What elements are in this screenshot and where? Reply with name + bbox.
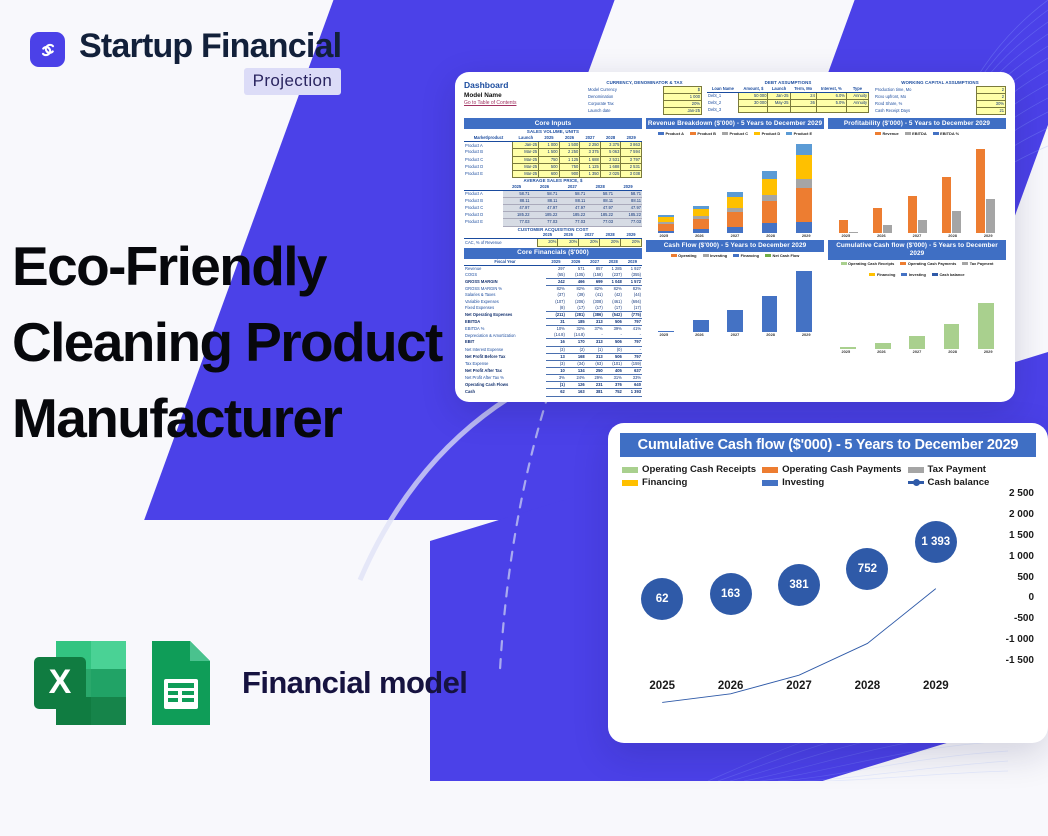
- axis-tick: 2029: [970, 233, 1006, 238]
- row-label: Depreciation & Amortization: [464, 332, 546, 339]
- column-header: 2025: [546, 259, 566, 266]
- row-value[interactable]: 20%: [664, 101, 702, 108]
- cell-value: (105): [566, 272, 586, 279]
- cell-value[interactable]: 50 000: [739, 92, 768, 99]
- table-row: Depreciation & Amortization(14.8)(14.8)-…: [464, 332, 642, 339]
- model-name-label: Model Name: [464, 91, 582, 100]
- axis-tick: 2027: [899, 233, 935, 238]
- table-row: Launch dateJan-25: [587, 108, 702, 115]
- column-header: Loan Name: [707, 86, 739, 93]
- avg-price-rows: Product A58.7158.7158.7158.7158.71Produc…: [464, 190, 642, 226]
- profitability-title: Profitability ($'000) - 5 Years to Decem…: [828, 118, 1006, 129]
- column-header: Amount, $: [739, 86, 768, 93]
- cell-value: 857: [586, 265, 604, 272]
- cell-value: 381: [586, 389, 604, 396]
- currency-rows: Model Currency$Denomination1 000Corporat…: [587, 86, 702, 115]
- legend-item: Revenue: [875, 131, 899, 136]
- row-label: Product E: [464, 219, 503, 226]
- cell-value[interactable]: [846, 107, 868, 113]
- cell-value[interactable]: Jan-25: [768, 92, 790, 99]
- cell-value[interactable]: 1 688: [580, 156, 601, 163]
- chart-legend: Operating Cash ReceiptsOperating Cash Pa…: [620, 457, 1036, 492]
- legend-item: Financing: [733, 253, 759, 258]
- cell-value[interactable]: Annuity: [846, 100, 868, 107]
- cell-value: 16: [546, 339, 566, 346]
- cell-value[interactable]: 1 125: [580, 163, 601, 170]
- column-header: 2027: [586, 259, 604, 266]
- cell-value[interactable]: 6.0%: [816, 92, 846, 99]
- cell-value[interactable]: 3 797: [621, 156, 642, 163]
- column-header: Launch: [513, 135, 539, 142]
- table-row: Cash621633817521 393: [464, 389, 642, 396]
- cell-value[interactable]: 3 863: [621, 142, 642, 149]
- footer-formats: X Financial model: [28, 635, 467, 731]
- row-label: Launch date: [587, 108, 664, 115]
- cash-flow-bars: [649, 262, 821, 332]
- cell-value: (55): [546, 272, 566, 279]
- page-title: Eco-Friendly Cleaning Product Manufactur…: [12, 228, 442, 456]
- cell-value[interactable]: Mar-25: [513, 156, 539, 163]
- row-value[interactable]: 21: [976, 108, 1005, 115]
- cell-value[interactable]: 58.71: [614, 190, 642, 197]
- cell-value: 313: [586, 319, 604, 326]
- legend-item: Investing: [703, 253, 728, 258]
- cumulative-small-legend: Operating Cash ReceiptsOperating Cash Pa…: [828, 260, 1006, 279]
- legend-item: Product A: [658, 131, 684, 136]
- table-row: Production time, Mo2: [874, 86, 1006, 93]
- cell-value: (17): [623, 305, 642, 312]
- cell-value[interactable]: 2 531: [621, 163, 642, 170]
- e-loop-logo-icon: [30, 32, 65, 67]
- y-tick: 1 000: [972, 551, 1034, 562]
- cell-value[interactable]: 47.97: [531, 205, 559, 212]
- cell-value: 3%: [546, 375, 566, 382]
- cell-value: 37%: [586, 326, 604, 333]
- brand-title: Startup Financial: [79, 26, 341, 66]
- axis-tick: 2028: [935, 349, 971, 354]
- cell-value[interactable]: 2 025: [600, 170, 621, 177]
- cell-value[interactable]: 500: [539, 163, 560, 170]
- cell-value[interactable]: 36: [790, 100, 816, 107]
- column-header: 2028: [586, 184, 614, 191]
- cell-value: -: [623, 332, 642, 339]
- column-header: Launch: [768, 86, 790, 93]
- table-row: EBITDA31185313506797: [464, 319, 642, 326]
- axis-tick: 2025: [646, 332, 682, 337]
- cell-value[interactable]: 47.97: [558, 205, 586, 212]
- cell-value[interactable]: 2 250: [559, 149, 580, 156]
- cell-value[interactable]: 77.03: [503, 219, 531, 226]
- y-tick: 2 000: [972, 509, 1034, 520]
- legend-item: Operating Cash Receipts: [622, 464, 756, 475]
- cell-value: (63): [586, 360, 604, 367]
- revenue-breakdown-bars: [649, 139, 821, 233]
- cell-value: 10: [546, 368, 566, 375]
- table-row: Net Profit After Tax10134250405637: [464, 368, 642, 375]
- debt-columns: Loan NameAmount, $LaunchTerm, MoInterest…: [707, 86, 869, 93]
- legend-item: Financing: [869, 272, 895, 277]
- legend-item: EBITDA %: [933, 131, 959, 136]
- table-row: Revenue2975718571 2851 927: [464, 265, 642, 272]
- footer-label: Financial model: [242, 665, 467, 701]
- cell-value[interactable]: [816, 107, 846, 113]
- column-header: 2029: [621, 232, 642, 239]
- y-tick: 500: [972, 572, 1034, 583]
- table-row: Denomination1 000: [587, 93, 702, 100]
- table-row: Net Profit Before Tax13168313506797: [464, 353, 642, 360]
- column-header: Type: [846, 86, 868, 93]
- debt-rows: Debt_150 000Jan-25246.0%AnnuityDebt_230 …: [707, 92, 869, 112]
- cell-value: (34): [566, 360, 586, 367]
- cell-value[interactable]: 77.03: [558, 219, 586, 226]
- table-row: Product B88.1188.1188.1188.1188.11: [464, 198, 642, 205]
- row-label: Product C: [464, 156, 513, 163]
- legend-item: Operating Cash Payments: [900, 261, 956, 266]
- row-value[interactable]: Jan-25: [664, 108, 702, 115]
- column-header: [464, 232, 537, 239]
- cell-value: 376: [604, 382, 623, 389]
- data-point-label: 62: [641, 578, 683, 620]
- y-tick: 2 500: [972, 488, 1034, 499]
- cell-value[interactable]: 58.71: [531, 190, 559, 197]
- cell-value[interactable]: 30 000: [739, 100, 768, 107]
- cell-value[interactable]: 185.22: [558, 212, 586, 219]
- axis-tick: 2028: [753, 233, 789, 238]
- cell-value: 31: [546, 319, 566, 326]
- table-row: Fixed Expenses(8)(17)(17)(17)(17): [464, 305, 642, 312]
- cell-value: (281): [566, 311, 586, 318]
- core-inputs-column: Core Inputs SALES VOLUME, UNITS Market/p…: [464, 118, 642, 396]
- cell-value: 31%: [604, 375, 623, 382]
- cell-value[interactable]: Annuity: [846, 92, 868, 99]
- cell-value: 797: [623, 319, 642, 326]
- cell-value[interactable]: 77.03: [531, 219, 559, 226]
- cell-value[interactable]: 47.97: [586, 205, 614, 212]
- legend-item: Tax Payment: [962, 261, 993, 266]
- cell-value: 185: [566, 319, 586, 326]
- cell-value[interactable]: 185.22: [503, 212, 531, 219]
- row-label: Cash: [464, 389, 546, 396]
- cell-value: 405: [604, 368, 623, 375]
- cell-value: (355): [623, 272, 642, 279]
- cell-value: 752: [604, 389, 623, 396]
- cell-value: 506: [604, 319, 623, 326]
- cell-value[interactable]: 20%: [600, 239, 621, 246]
- cell-value[interactable]: 1 000: [539, 142, 560, 149]
- column-header: 2025: [539, 135, 560, 142]
- profitability-bars: [831, 139, 1003, 233]
- cell-value: -: [586, 332, 604, 339]
- legend-item: Operating Cash Payments: [762, 464, 901, 475]
- cell-value: 29%: [586, 375, 604, 382]
- cell-value: 82%: [546, 286, 566, 293]
- cell-value: (17): [604, 305, 623, 312]
- debt-panel: DEBT ASSUMPTIONS Loan NameAmount, $Launc…: [707, 80, 869, 115]
- cell-value[interactable]: Mar-25: [513, 149, 539, 156]
- cell-value[interactable]: 88.11: [531, 198, 559, 205]
- cell-value: 168: [566, 353, 586, 360]
- cell-value[interactable]: Mar-25: [513, 170, 539, 177]
- cell-value[interactable]: 20%: [621, 239, 642, 246]
- row-label: Tax Expense: [464, 360, 546, 367]
- cell-value[interactable]: 77.03: [614, 219, 642, 226]
- cell-value[interactable]: Mar-25: [513, 163, 539, 170]
- table-row: Tax Expense(3)(34)(63)(101)(159): [464, 360, 642, 367]
- row-label: Net Profit After Tax: [464, 368, 546, 375]
- cell-value[interactable]: 1 688: [600, 163, 621, 170]
- axis-tick: 2026: [682, 233, 718, 238]
- table-row: GROSS MARGIN %82%82%82%82%82%: [464, 286, 642, 293]
- cell-value[interactable]: Jan-25: [513, 142, 539, 149]
- cell-value: 297: [546, 265, 566, 272]
- legend-item: Operating Cash Receipts: [841, 261, 895, 266]
- cell-value: 82%: [623, 286, 642, 293]
- cell-value[interactable]: [790, 107, 816, 113]
- column-header: 2025: [503, 184, 531, 191]
- table-row: Rcvd Share, %30%: [874, 101, 1006, 108]
- table-row: CAC, % of Revenue20%20%20%20%20%: [464, 239, 642, 246]
- cell-value: 32%: [566, 326, 586, 333]
- column-header: 2026: [558, 232, 579, 239]
- column-header: 2026: [531, 184, 559, 191]
- cell-value[interactable]: 750: [539, 156, 560, 163]
- cell-value[interactable]: 20%: [558, 239, 579, 246]
- cell-value: -: [604, 332, 623, 339]
- cell-value: 134: [566, 368, 586, 375]
- axis-tick: 2027: [717, 332, 753, 337]
- table-row: Cash Receipt Days21: [874, 108, 1006, 115]
- cell-value: 1 285: [604, 265, 623, 272]
- data-point-label: 381: [778, 564, 820, 606]
- row-label: Net Profit After Tax %: [464, 375, 546, 382]
- table-row: COGS(55)(105)(158)(237)(355): [464, 272, 642, 279]
- axis-tick: 2029: [788, 233, 824, 238]
- cash-flow-title: Cash Flow ($'000) - 5 Years to December …: [646, 240, 824, 251]
- cumulative-small-chart: [828, 279, 1006, 349]
- axis-tick: 2027: [717, 233, 753, 238]
- google-sheets-icon: [146, 635, 216, 731]
- brand-lockup: Startup Financial Projection: [30, 26, 341, 95]
- cell-value[interactable]: [768, 107, 790, 113]
- cell-value: 1 572: [623, 279, 642, 286]
- cell-value[interactable]: 58.71: [558, 190, 586, 197]
- column-header: Term, Mo: [790, 86, 816, 93]
- cell-value: 82%: [604, 286, 623, 293]
- column-header: [464, 184, 503, 191]
- row-label: GROSS MARGIN %: [464, 286, 546, 293]
- cell-value: (3): [546, 346, 566, 353]
- profitability-legend: RevenueEBITDAEBITDA %: [828, 129, 1006, 137]
- table-row: Net Interest Expense(3)(2)(1)(0)-: [464, 346, 642, 353]
- row-label: Fixed Expenses: [464, 305, 546, 312]
- cell-value[interactable]: 20%: [579, 239, 600, 246]
- legend-item: Investing: [901, 272, 926, 277]
- row-label: Rcvo upfront, Mo: [874, 93, 976, 100]
- cac-columns: 20252026202720282029: [464, 232, 642, 239]
- row-label: Corporate Tax: [587, 101, 664, 108]
- row-label: Net Profit Before Tax: [464, 353, 546, 360]
- cell-value: 41%: [623, 326, 642, 333]
- row-value[interactable]: $: [664, 86, 702, 93]
- sales-volume-columns: Market/productLaunch20252026202720282029: [464, 135, 642, 142]
- row-label: Debt_1: [707, 92, 739, 99]
- table-row: Product DMar-255007501 1251 6882 531: [464, 163, 642, 170]
- cell-value: (211): [546, 311, 566, 318]
- row-label: Net Operating Expenses: [464, 311, 546, 318]
- cell-value: (101): [604, 360, 623, 367]
- column-header: Interest, %: [816, 86, 846, 93]
- row-label: EBIT: [464, 339, 546, 346]
- cell-value: 506: [604, 339, 623, 346]
- row-label: Net Interest Expense: [464, 346, 546, 353]
- cell-value[interactable]: 88.11: [503, 198, 531, 205]
- brand-subtitle: Projection: [244, 68, 342, 95]
- column-header: 2027: [580, 135, 601, 142]
- cell-value: 62: [546, 389, 566, 396]
- cumulative-cashflow-card[interactable]: Cumulative Cash flow ($'000) - 5 Years t…: [608, 423, 1048, 743]
- cell-value: (3): [546, 360, 566, 367]
- cell-value[interactable]: 47.97: [503, 205, 531, 212]
- profitability-cumulative-column: Profitability ($'000) - 5 Years to Decem…: [828, 118, 1006, 396]
- cell-value[interactable]: 600: [539, 170, 560, 177]
- cell-value[interactable]: May-25: [768, 100, 790, 107]
- cell-value[interactable]: 750: [559, 163, 580, 170]
- cell-value[interactable]: 24: [790, 92, 816, 99]
- cell-value[interactable]: 5.0%: [816, 100, 846, 107]
- legend-item: Investing: [762, 477, 901, 488]
- table-row: Net Operating Expenses(211)(281)(386)(54…: [464, 311, 642, 318]
- cash-flow-xaxis: 20252026202720282029: [646, 332, 824, 337]
- core-inputs-band: Core Inputs: [464, 118, 642, 129]
- cell-value[interactable]: 3 038: [621, 170, 642, 177]
- data-point-label: 163: [710, 573, 752, 615]
- revenue-cashflow-column: Revenue Breakdown ($'000) - 5 Years to D…: [646, 118, 824, 396]
- cell-value[interactable]: 3 375: [600, 142, 621, 149]
- sales-volume-rows: Product AJan-251 0001 5002 2503 3753 863…: [464, 142, 642, 178]
- cell-value: 797: [623, 353, 642, 360]
- legend-item: Product B: [690, 131, 716, 136]
- cumulative-small-xaxis: 20252026202720282029: [828, 349, 1006, 354]
- cell-value: 231: [586, 382, 604, 389]
- cell-value: -: [623, 346, 642, 353]
- row-value[interactable]: 30%: [976, 101, 1005, 108]
- cell-value: 506: [604, 353, 623, 360]
- row-value[interactable]: 1 000: [664, 93, 702, 100]
- cell-value[interactable]: 3 375: [580, 149, 601, 156]
- axis-tick: 2026: [864, 233, 900, 238]
- cell-value[interactable]: 20%: [537, 239, 558, 246]
- column-header: 2028: [604, 259, 623, 266]
- cell-value[interactable]: 1 350: [580, 170, 601, 177]
- cell-value: (2): [566, 346, 586, 353]
- cell-value[interactable]: 58.71: [503, 190, 531, 197]
- dashboard-screenshot-card[interactable]: Dashboard Model Name Go to Table of Cont…: [455, 72, 1015, 402]
- cell-value: 82%: [566, 286, 586, 293]
- core-financials-columns: Fiscal Year20252026202720282029: [464, 259, 642, 266]
- cell-value: 33%: [623, 375, 642, 382]
- cell-value[interactable]: 2 250: [580, 142, 601, 149]
- cell-value[interactable]: 2 531: [600, 156, 621, 163]
- cell-value: 39%: [604, 326, 623, 333]
- row-label: Product A: [464, 142, 513, 149]
- cell-value[interactable]: 900: [559, 170, 580, 177]
- row-label: Operating Cash Flows: [464, 382, 546, 389]
- cell-value[interactable]: [739, 107, 768, 113]
- table-row: Product CMar-257501 1251 6882 5313 797: [464, 156, 642, 163]
- row-label: Product B: [464, 149, 513, 156]
- column-header: 2027: [558, 184, 586, 191]
- legend-item: Cash balance: [908, 477, 1034, 488]
- cell-value[interactable]: 1 500: [539, 149, 560, 156]
- table-of-contents-link[interactable]: Go to Table of Contents: [464, 100, 582, 108]
- table-row: Debt_230 000May-25365.0%Annuity: [707, 100, 869, 107]
- cell-value[interactable]: 47.97: [614, 205, 642, 212]
- legend-item: Product D: [754, 131, 780, 136]
- column-header: 2028: [600, 232, 621, 239]
- profitability-xaxis: 20252026202720282029: [828, 233, 1006, 238]
- cell-value: (386): [586, 311, 604, 318]
- revenue-breakdown-title: Revenue Breakdown ($'000) - 5 Years to D…: [646, 118, 824, 129]
- cell-value[interactable]: 185.22: [586, 212, 614, 219]
- cell-value[interactable]: 185.22: [614, 212, 642, 219]
- y-tick: 0: [972, 592, 1034, 603]
- row-value[interactable]: 2: [976, 93, 1005, 100]
- cell-value: 466: [566, 279, 586, 286]
- cell-value[interactable]: 185.22: [531, 212, 559, 219]
- cell-value[interactable]: 1 500: [559, 142, 580, 149]
- cell-value[interactable]: 58.71: [586, 190, 614, 197]
- row-label: EBITDA: [464, 319, 546, 326]
- cell-value[interactable]: 5 063: [600, 149, 621, 156]
- cell-value[interactable]: 1 125: [559, 156, 580, 163]
- cell-value[interactable]: 77.03: [586, 219, 614, 226]
- cell-value[interactable]: 7 594: [621, 149, 642, 156]
- cell-value[interactable]: 88.11: [558, 198, 586, 205]
- row-value[interactable]: 2: [976, 86, 1005, 93]
- cell-value: (8): [546, 305, 566, 312]
- legend-item: Operating: [671, 253, 697, 258]
- cell-value[interactable]: 88.11: [614, 198, 642, 205]
- cell-value: 126: [566, 382, 586, 389]
- cell-value: (542): [604, 311, 623, 318]
- table-row: GROSS MARGIN2424666991 0481 572: [464, 279, 642, 286]
- row-label: Rcvd Share, %: [874, 101, 976, 108]
- cell-value[interactable]: 88.11: [586, 198, 614, 205]
- cell-value: (17): [586, 305, 604, 312]
- cell-value: 24%: [566, 375, 586, 382]
- row-label: COGS: [464, 272, 546, 279]
- cell-value: 242: [546, 279, 566, 286]
- revenue-breakdown-chart: [646, 137, 824, 233]
- table-row: Debt_3: [707, 107, 869, 113]
- column-header: 2028: [600, 135, 621, 142]
- legend-item: Product C: [722, 131, 748, 136]
- row-label: Debt_2: [707, 100, 739, 107]
- cell-value: (775): [623, 311, 642, 318]
- cell-value: 637: [623, 368, 642, 375]
- cash-flow-legend: OperatingInvestingFinancingNet Cash Flow: [646, 252, 824, 260]
- working-capital-rows: Production time, Mo2Rcvo upfront, Mo2Rcv…: [874, 86, 1006, 115]
- table-row: Operating Cash Flows(1)126231376640: [464, 382, 642, 389]
- row-label: Cash Receipt Days: [874, 108, 976, 115]
- row-label: Product D: [464, 212, 503, 219]
- left-content-column: Startup Financial Projection Eco-Friendl…: [0, 0, 460, 781]
- table-row: Net Profit After Tax %3%24%29%31%33%: [464, 375, 642, 382]
- column-header: Market/product: [464, 135, 513, 142]
- cumulative-small-title: Cumulative Cash flow ($'000) - 5 Years t…: [828, 240, 1006, 259]
- column-header: 2026: [566, 259, 586, 266]
- cell-value: (158): [586, 272, 604, 279]
